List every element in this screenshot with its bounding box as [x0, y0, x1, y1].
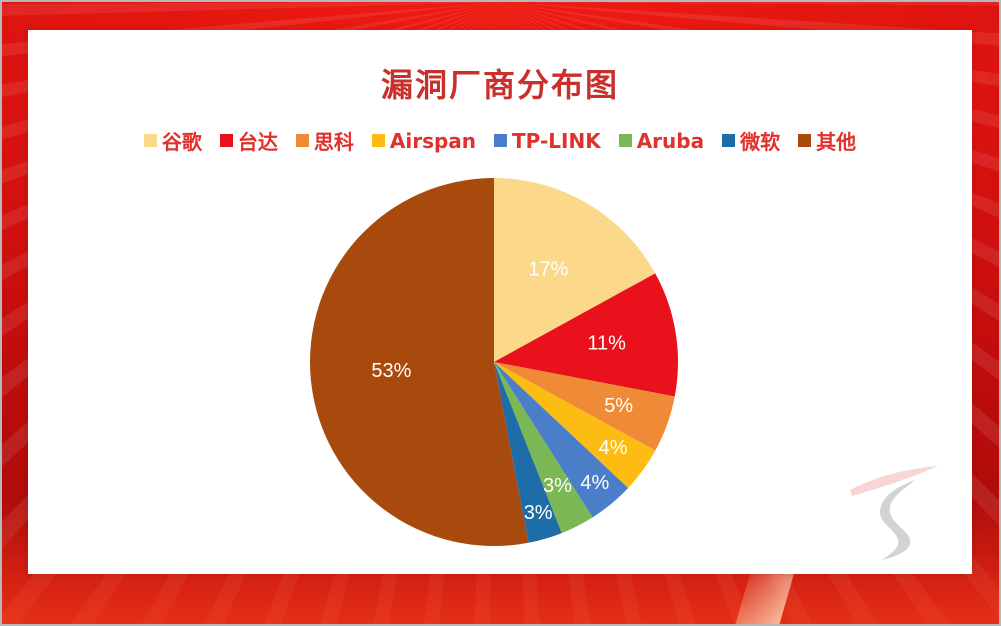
legend-swatch-icon	[798, 134, 811, 147]
s-swoosh-logo-icon	[842, 448, 962, 568]
legend-item[interactable]: 其他	[798, 126, 856, 155]
legend-item-label: Airspan	[390, 129, 476, 153]
legend-item-label: 思科	[314, 126, 354, 155]
pie-slice-label: 11%	[587, 332, 626, 354]
pie-slice-label: 4%	[580, 472, 609, 494]
pie-slice-label: 53%	[371, 360, 411, 382]
legend-item[interactable]: Airspan	[372, 129, 476, 153]
content-panel: 漏洞厂商分布图 谷歌台达思科AirspanTP-LINKAruba微软其他 17…	[28, 30, 972, 574]
legend-item[interactable]: TP-LINK	[494, 129, 601, 153]
legend-item-label: Aruba	[637, 129, 704, 153]
legend-swatch-icon	[144, 134, 157, 147]
legend-item[interactable]: 谷歌	[144, 126, 202, 155]
pie-chart: 17%11%5%4%4%3%3%53%	[309, 177, 679, 547]
pie-slice-label: 17%	[528, 258, 568, 280]
legend-item-label: 谷歌	[162, 126, 202, 155]
pie-slice-label: 3%	[543, 475, 572, 497]
legend-item[interactable]: Aruba	[619, 129, 704, 153]
legend-swatch-icon	[296, 134, 309, 147]
pie-slice-label: 5%	[604, 395, 633, 417]
legend-item-label: 微软	[740, 126, 780, 155]
legend-swatch-icon	[619, 134, 632, 147]
pie-slice-group	[310, 178, 678, 546]
chart-legend: 谷歌台达思科AirspanTP-LINKAruba微软其他	[28, 126, 972, 155]
legend-item-label: 台达	[238, 126, 278, 155]
legend-swatch-icon	[722, 134, 735, 147]
pie-slice-label: 4%	[599, 437, 628, 459]
legend-swatch-icon	[494, 134, 507, 147]
pie-slice-label: 3%	[524, 502, 553, 524]
legend-item[interactable]: 思科	[296, 126, 354, 155]
legend-item[interactable]: 微软	[722, 126, 780, 155]
legend-swatch-icon	[220, 134, 233, 147]
chart-title: 漏洞厂商分布图	[28, 60, 972, 106]
legend-item-label: TP-LINK	[512, 129, 601, 153]
legend-item[interactable]: 台达	[220, 126, 278, 155]
pie-chart-svg: 17%11%5%4%4%3%3%53%	[309, 177, 679, 547]
legend-swatch-icon	[372, 134, 385, 147]
slide-root: 漏洞厂商分布图 谷歌台达思科AirspanTP-LINKAruba微软其他 17…	[0, 0, 1001, 626]
legend-item-label: 其他	[816, 126, 856, 155]
